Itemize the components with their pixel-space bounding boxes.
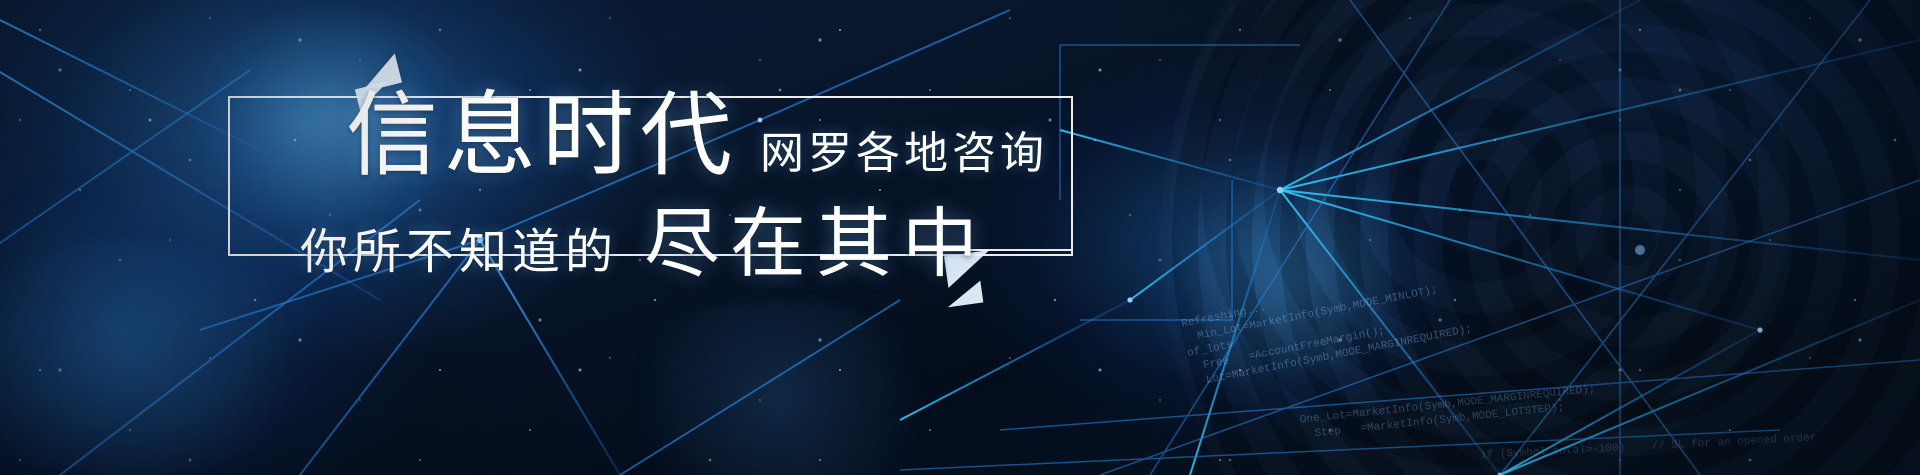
nebula-glow-right (1130, 150, 1450, 410)
concentric-sphere-backdrop (1160, 0, 1920, 475)
concentric-sphere-backdrop-inner (1170, 0, 1790, 475)
headline-main-1: 信息时代 (346, 90, 738, 182)
code-texture-block-b: One_Lot=MarketInfo(Symb,MODE_MARGINREQUI… (1299, 383, 1598, 444)
code-texture-block-c: if (Symbol_total>-100) // SL for an open… (1480, 431, 1817, 464)
headline-line-1: 信息时代 网罗各地咨询 (346, 90, 1048, 182)
headline-text-block: 信息时代 网罗各地咨询 你所不知道的 尽在其中 (228, 78, 1128, 278)
code-texture-block-a: Refreshing... Min_Lot=MarketInfo(Symb,MO… (1180, 264, 1473, 392)
headline-sub-1: 网罗各地咨询 (760, 132, 1048, 176)
headline-sub-2: 你所不知道的 (300, 228, 618, 276)
headline-line-2: 你所不知道的 尽在其中 (300, 206, 988, 282)
headline-main-2: 尽在其中 (644, 206, 988, 282)
banner-root: Refreshing... Min_Lot=MarketInfo(Symb,MO… (0, 0, 1920, 475)
nebula-glow-center (600, 300, 960, 475)
